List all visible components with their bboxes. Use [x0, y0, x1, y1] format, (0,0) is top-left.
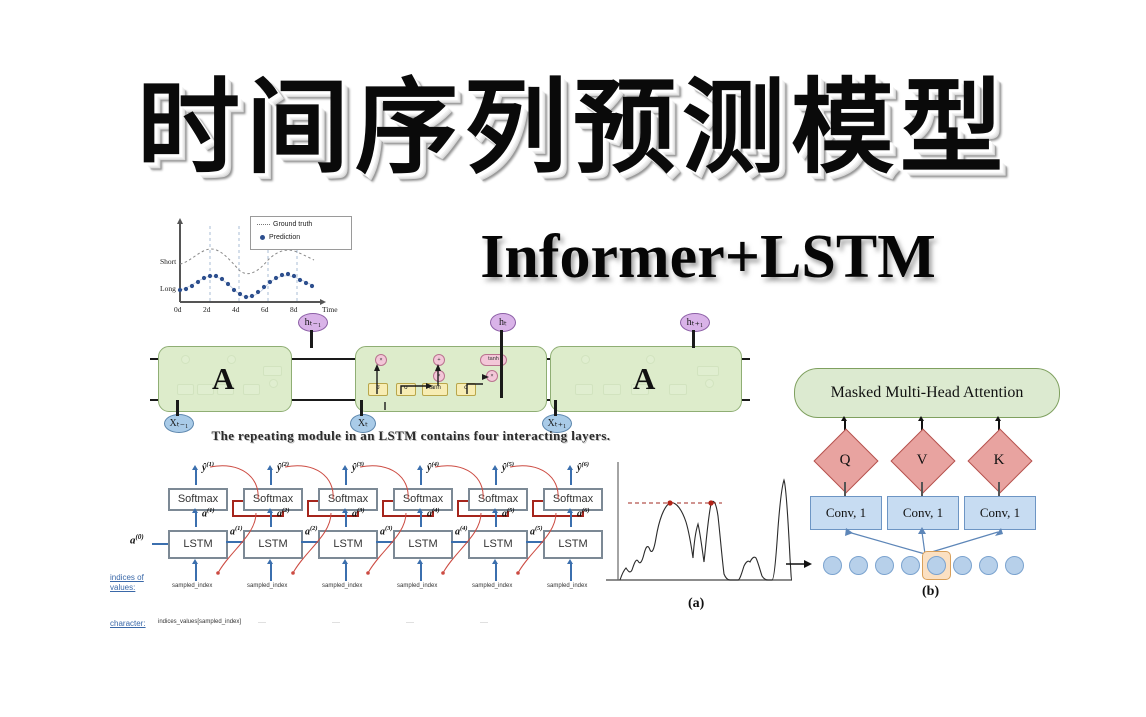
- dashed-line-swatch: [257, 224, 270, 225]
- poster-canvas: 时间序列预测模型 Informer+LSTM: [0, 0, 1146, 717]
- legend-ground-truth: Ground truth: [257, 221, 312, 228]
- token-circle-4: [901, 556, 920, 575]
- hidden-arrow-next: [692, 330, 695, 348]
- lstm-chain-diagram: A A σ σ tanh σ × + × × tanh: [150, 310, 750, 440]
- cell-wiring: [355, 346, 545, 410]
- token-circle-6: [953, 556, 972, 575]
- panel-a-caption: (a): [688, 596, 704, 612]
- legend-label-ground-truth: Ground truth: [273, 221, 312, 228]
- y-tick-long: Long: [160, 284, 176, 293]
- cell-letter-a-prev: A: [212, 361, 234, 397]
- token-to-conv-lines: [786, 368, 1062, 618]
- input-arrow-current: [360, 400, 363, 416]
- legend-prediction: Prediction: [257, 234, 300, 241]
- lstm-cell-next: A: [550, 346, 742, 412]
- legend-label-prediction: Prediction: [269, 234, 300, 241]
- panel-a-prob-curve: (a): [606, 458, 792, 618]
- input-arrow-next: [554, 400, 557, 416]
- sampling-diagram: indices of values: character: indices_va…: [110, 455, 610, 635]
- panel-a-svg: [606, 458, 792, 598]
- page-subtitle: Informer+LSTM: [372, 222, 1044, 292]
- panel-b-caption: (b): [922, 584, 939, 600]
- token-circle-1: [823, 556, 842, 575]
- input-arrow-prev: [176, 400, 179, 416]
- token-circle-5: [927, 556, 946, 575]
- token-circle-7: [979, 556, 998, 575]
- y-tick-short: Short: [160, 257, 176, 266]
- input-prev: Xₜ₋₁: [164, 414, 194, 433]
- cell-letter-a-next: A: [633, 361, 655, 397]
- hidden-arrow-current: [500, 330, 503, 398]
- page-title: 时间序列预测模型: [0, 74, 1146, 184]
- forecast-mini-chart: Ground truth Prediction Short Long 0d 2d…: [162, 212, 358, 320]
- hidden-output-prev: hₜ₋₁: [298, 313, 328, 332]
- hidden-output-current: hₜ: [490, 313, 516, 332]
- token-circle-3: [875, 556, 894, 575]
- token-circle-8: [1005, 556, 1024, 575]
- lstm-caption: The repeating module in an LSTM contains…: [196, 428, 626, 444]
- dot-swatch: [260, 235, 265, 240]
- feedback-curves: [110, 455, 610, 635]
- hidden-output-next: hₜ₊₁: [680, 313, 710, 332]
- hidden-arrow-prev: [310, 330, 313, 348]
- chart-legend: Ground truth Prediction: [250, 216, 352, 250]
- token-circle-2: [849, 556, 868, 575]
- panel-b-attention: Masked Multi-Head Attention Q V K Conv, …: [786, 368, 1062, 618]
